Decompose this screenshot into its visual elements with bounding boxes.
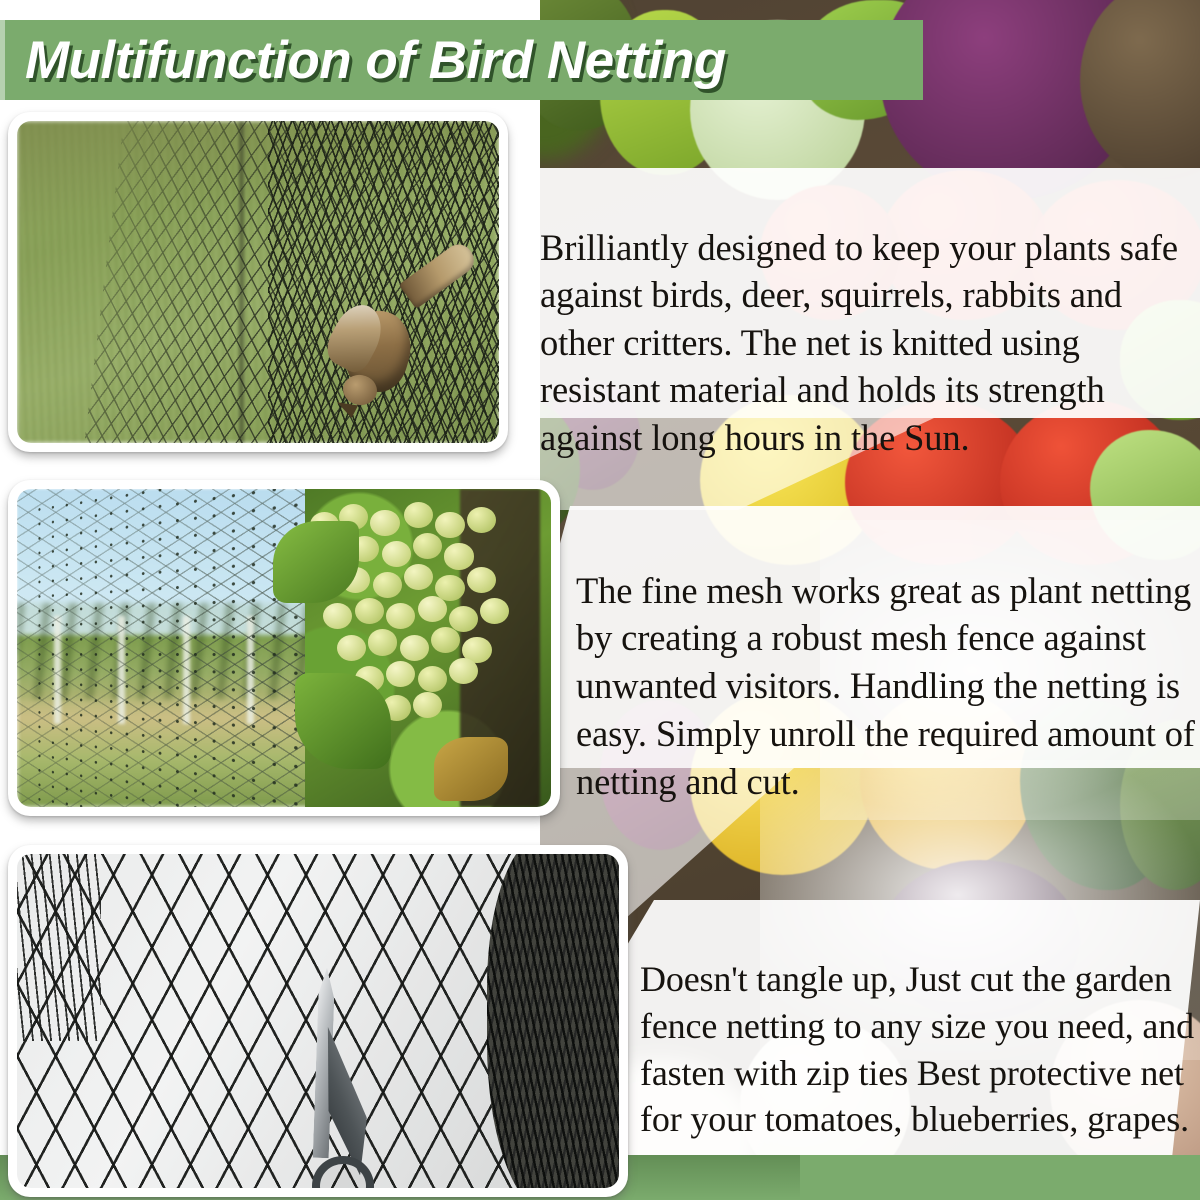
- vineyard-grapes-netting-photo: [8, 480, 560, 816]
- photo2-frame: [17, 489, 551, 807]
- feature-text-1: Brilliantly designed to keep your plants…: [540, 224, 1200, 462]
- title-banner: Multifunction of Bird Netting: [0, 20, 923, 100]
- feature-text-2: The fine mesh works great as plant netti…: [576, 567, 1200, 806]
- scissor-blade-lower: [324, 1025, 370, 1177]
- bird-caught-in-netting-photo: [8, 112, 508, 452]
- scissors: [282, 968, 402, 1188]
- scissor-handle: [312, 1156, 374, 1188]
- scissors-cutting-mesh-photo: [8, 845, 628, 1197]
- bunched-netting: [487, 854, 619, 1188]
- page-title: Multifunction of Bird Netting: [25, 34, 726, 87]
- infographic-canvas: Multifunction of Bird Netting: [0, 0, 1200, 1200]
- feature-text-3: Doesn't tangle up, Just cut the garden f…: [640, 956, 1200, 1143]
- photo3-frame: [17, 854, 619, 1188]
- photo1-frame: [17, 121, 499, 443]
- mesh-fringe: [17, 854, 101, 1041]
- trapped-bird: [310, 256, 475, 416]
- banner-left-edge: [0, 20, 5, 100]
- vine-leaf-3: [434, 737, 509, 801]
